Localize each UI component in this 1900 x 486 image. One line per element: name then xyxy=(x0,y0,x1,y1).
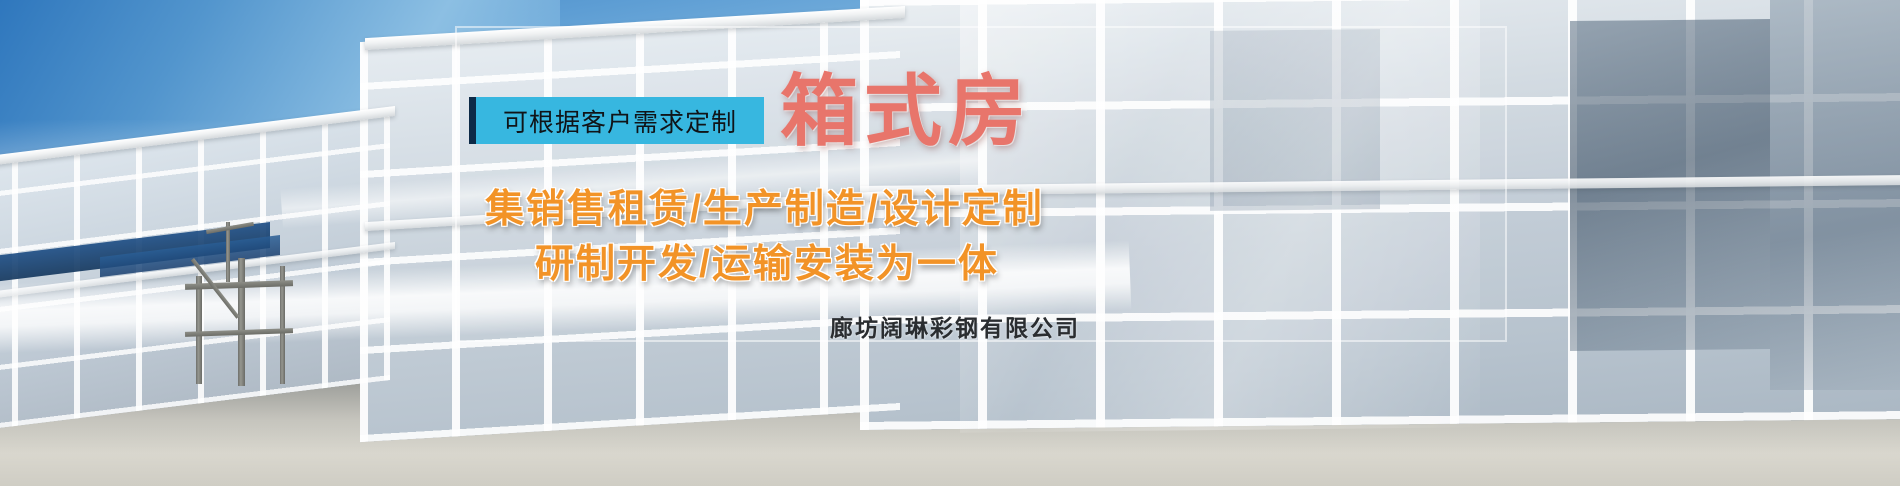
text-overlay: 可根据客户需求定制 箱式房 集销售租赁/生产制造/设计定制 研制开发/运输安装为… xyxy=(0,0,1900,486)
tagline-text: 可根据客户需求定制 xyxy=(503,103,737,139)
subline-second: 研制开发/运输安装为一体 xyxy=(535,245,999,284)
headline-title: 箱式房 xyxy=(780,72,1032,150)
subline-first: 集销售租赁/生产制造/设计定制 xyxy=(485,190,1044,229)
promo-banner: 可根据客户需求定制 箱式房 集销售租赁/生产制造/设计定制 研制开发/运输安装为… xyxy=(0,0,1900,486)
company-name: 廊坊阔琳彩钢有限公司 xyxy=(830,309,1080,343)
tagline-badge: 可根据客户需求定制 xyxy=(476,97,764,144)
